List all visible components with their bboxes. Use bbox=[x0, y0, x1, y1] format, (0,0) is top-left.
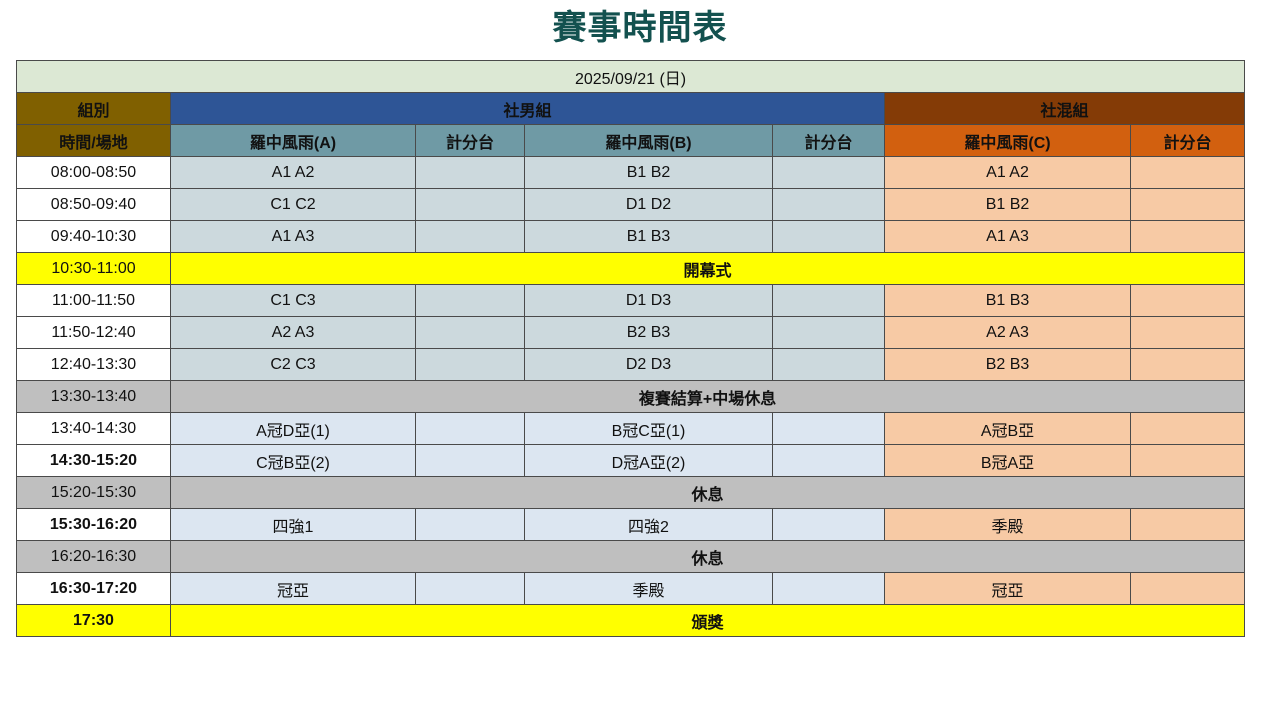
men-group-cell: 社男組 bbox=[171, 93, 885, 125]
match-cell-court-c: B冠A亞 bbox=[885, 445, 1131, 477]
match-cell-court-b: D1 D3 bbox=[525, 285, 773, 317]
time-cell: 15:30-16:20 bbox=[17, 509, 171, 541]
score-cell-c bbox=[1131, 221, 1245, 253]
table-row: 16:30-17:20冠亞季殿冠亞 bbox=[17, 573, 1245, 605]
schedule-page: 賽事時間表 2025/09/21 (日) 組別 社男組 社混組 時間/場地 羅中… bbox=[0, 0, 1280, 720]
match-cell-court-a: A冠D亞(1) bbox=[171, 413, 416, 445]
score-cell-b bbox=[773, 509, 885, 541]
match-cell-court-c: B2 B3 bbox=[885, 349, 1131, 381]
table-row: 11:00-11:50C1 C3D1 D3B1 B3 bbox=[17, 285, 1245, 317]
date-header-row: 2025/09/21 (日) bbox=[17, 61, 1245, 93]
group-header-row: 組別 社男組 社混組 bbox=[17, 93, 1245, 125]
score-cell-c bbox=[1131, 349, 1245, 381]
score-cell-c bbox=[1131, 285, 1245, 317]
score-cell-a bbox=[416, 509, 525, 541]
table-row: 13:40-14:30A冠D亞(1)B冠C亞(1)A冠B亞 bbox=[17, 413, 1245, 445]
venue-header-row: 時間/場地 羅中風雨(A) 計分台 羅中風雨(B) 計分台 羅中風雨(C) 計分… bbox=[17, 125, 1245, 157]
score-cell-b bbox=[773, 221, 885, 253]
time-cell: 17:30 bbox=[17, 605, 171, 637]
score-cell-a bbox=[416, 221, 525, 253]
score-cell-c bbox=[1131, 317, 1245, 349]
table-row: 11:50-12:40A2 A3B2 B3A2 A3 bbox=[17, 317, 1245, 349]
match-cell-court-c: A2 A3 bbox=[885, 317, 1131, 349]
date-header-cell: 2025/09/21 (日) bbox=[17, 61, 1245, 93]
span-label-cell: 複賽結算+中場休息 bbox=[171, 381, 1245, 413]
schedule-table: 2025/09/21 (日) 組別 社男組 社混組 時間/場地 羅中風雨(A) … bbox=[16, 60, 1245, 637]
score-cell-a bbox=[416, 445, 525, 477]
table-row: 08:00-08:50A1 A2B1 B2A1 A2 bbox=[17, 157, 1245, 189]
match-cell-court-c: B1 B3 bbox=[885, 285, 1131, 317]
match-cell-court-c: A1 A3 bbox=[885, 221, 1131, 253]
time-venue-label-cell: 時間/場地 bbox=[17, 125, 171, 157]
score-cell-c bbox=[1131, 413, 1245, 445]
match-cell-court-a: C2 C3 bbox=[171, 349, 416, 381]
table-row: 12:40-13:30C2 C3D2 D3B2 B3 bbox=[17, 349, 1245, 381]
match-cell-court-a: C1 C2 bbox=[171, 189, 416, 221]
match-cell-court-b: B1 B3 bbox=[525, 221, 773, 253]
match-cell-court-c: B1 B2 bbox=[885, 189, 1131, 221]
span-label-cell: 頒獎 bbox=[171, 605, 1245, 637]
venue-men-score-a-cell: 計分台 bbox=[416, 125, 525, 157]
time-cell: 11:50-12:40 bbox=[17, 317, 171, 349]
match-cell-court-a: A1 A3 bbox=[171, 221, 416, 253]
match-cell-court-a: A1 A2 bbox=[171, 157, 416, 189]
match-cell-court-c: A冠B亞 bbox=[885, 413, 1131, 445]
match-cell-court-b: 季殿 bbox=[525, 573, 773, 605]
match-cell-court-b: 四強2 bbox=[525, 509, 773, 541]
time-cell: 16:20-16:30 bbox=[17, 541, 171, 573]
venue-men-court-b-cell: 羅中風雨(B) bbox=[525, 125, 773, 157]
score-cell-b bbox=[773, 317, 885, 349]
score-cell-b bbox=[773, 189, 885, 221]
score-cell-c bbox=[1131, 189, 1245, 221]
score-cell-a bbox=[416, 189, 525, 221]
score-cell-c bbox=[1131, 573, 1245, 605]
match-cell-court-c: A1 A2 bbox=[885, 157, 1131, 189]
time-cell: 08:00-08:50 bbox=[17, 157, 171, 189]
score-cell-b bbox=[773, 573, 885, 605]
time-cell: 10:30-11:00 bbox=[17, 253, 171, 285]
venue-mixed-court-c-cell: 羅中風雨(C) bbox=[885, 125, 1131, 157]
table-row: 14:30-15:20C冠B亞(2)D冠A亞(2)B冠A亞 bbox=[17, 445, 1245, 477]
match-cell-court-b: B1 B2 bbox=[525, 157, 773, 189]
match-cell-court-b: B冠C亞(1) bbox=[525, 413, 773, 445]
venue-mixed-score-c-cell: 計分台 bbox=[1131, 125, 1245, 157]
score-cell-a bbox=[416, 573, 525, 605]
match-cell-court-b: D冠A亞(2) bbox=[525, 445, 773, 477]
match-cell-court-b: D2 D3 bbox=[525, 349, 773, 381]
schedule-table-body: 2025/09/21 (日) 組別 社男組 社混組 時間/場地 羅中風雨(A) … bbox=[17, 61, 1245, 637]
match-cell-court-c: 季殿 bbox=[885, 509, 1131, 541]
time-cell: 09:40-10:30 bbox=[17, 221, 171, 253]
mixed-group-cell: 社混組 bbox=[885, 93, 1245, 125]
score-cell-a bbox=[416, 413, 525, 445]
score-cell-c bbox=[1131, 445, 1245, 477]
match-cell-court-a: A2 A3 bbox=[171, 317, 416, 349]
table-row: 08:50-09:40C1 C2D1 D2B1 B2 bbox=[17, 189, 1245, 221]
score-cell-a bbox=[416, 349, 525, 381]
score-cell-c bbox=[1131, 509, 1245, 541]
table-row: 13:30-13:40複賽結算+中場休息 bbox=[17, 381, 1245, 413]
span-label-cell: 休息 bbox=[171, 541, 1245, 573]
score-cell-b bbox=[773, 445, 885, 477]
time-cell: 13:30-13:40 bbox=[17, 381, 171, 413]
time-cell: 11:00-11:50 bbox=[17, 285, 171, 317]
score-cell-a bbox=[416, 285, 525, 317]
table-row: 09:40-10:30A1 A3B1 B3A1 A3 bbox=[17, 221, 1245, 253]
span-label-cell: 休息 bbox=[171, 477, 1245, 509]
time-cell: 13:40-14:30 bbox=[17, 413, 171, 445]
time-cell: 08:50-09:40 bbox=[17, 189, 171, 221]
score-cell-b bbox=[773, 413, 885, 445]
match-cell-court-a: 四強1 bbox=[171, 509, 416, 541]
time-cell: 12:40-13:30 bbox=[17, 349, 171, 381]
score-cell-b bbox=[773, 349, 885, 381]
time-cell: 16:30-17:20 bbox=[17, 573, 171, 605]
table-row: 15:20-15:30休息 bbox=[17, 477, 1245, 509]
page-title: 賽事時間表 bbox=[0, 2, 1280, 54]
match-cell-court-c: 冠亞 bbox=[885, 573, 1131, 605]
venue-men-score-b-cell: 計分台 bbox=[773, 125, 885, 157]
group-label-cell: 組別 bbox=[17, 93, 171, 125]
time-cell: 14:30-15:20 bbox=[17, 445, 171, 477]
time-cell: 15:20-15:30 bbox=[17, 477, 171, 509]
score-cell-a bbox=[416, 317, 525, 349]
match-cell-court-a: 冠亞 bbox=[171, 573, 416, 605]
table-row: 17:30頒獎 bbox=[17, 605, 1245, 637]
table-row: 16:20-16:30休息 bbox=[17, 541, 1245, 573]
match-cell-court-a: C1 C3 bbox=[171, 285, 416, 317]
venue-men-court-a-cell: 羅中風雨(A) bbox=[171, 125, 416, 157]
span-label-cell: 開幕式 bbox=[171, 253, 1245, 285]
table-row: 10:30-11:00開幕式 bbox=[17, 253, 1245, 285]
score-cell-c bbox=[1131, 157, 1245, 189]
score-cell-a bbox=[416, 157, 525, 189]
score-cell-b bbox=[773, 157, 885, 189]
match-cell-court-b: B2 B3 bbox=[525, 317, 773, 349]
score-cell-b bbox=[773, 285, 885, 317]
match-cell-court-b: D1 D2 bbox=[525, 189, 773, 221]
match-cell-court-a: C冠B亞(2) bbox=[171, 445, 416, 477]
table-row: 15:30-16:20四強1四強2季殿 bbox=[17, 509, 1245, 541]
